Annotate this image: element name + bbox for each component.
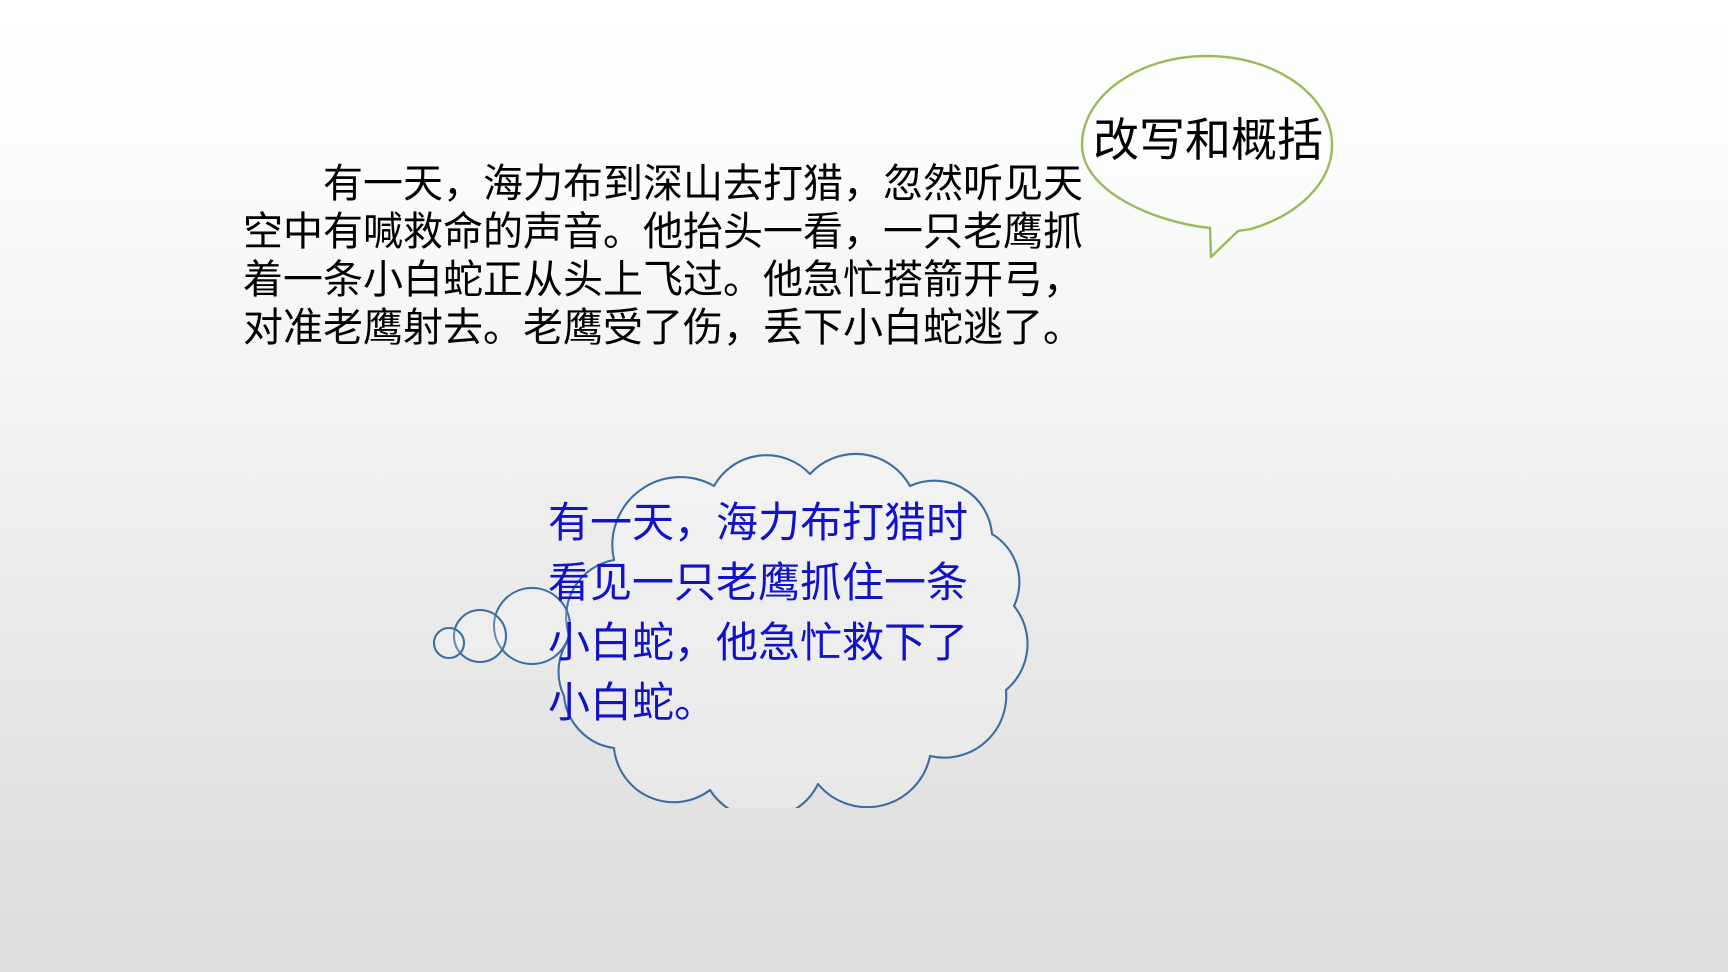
thought-cloud-text: 有一天，海力布打猎时看见一只老鹰抓住一条小白蛇，他急忙救下了小白蛇。	[548, 493, 988, 733]
narrative-paragraph: 有一天，海力布到深山去打猎，忽然听见天空中有喊救命的声音。他抬头一看，一只老鹰抓…	[243, 160, 1083, 352]
page-title: 改写和概括	[1074, 114, 1342, 166]
title-speech-bubble: 改写和概括	[1078, 52, 1338, 262]
thought-tail-circle-small	[434, 628, 464, 658]
slide-canvas: 有一天，海力布到深山去打猎，忽然听见天空中有喊救命的声音。他抬头一看，一只老鹰抓…	[0, 0, 1728, 972]
thought-cloud-bubble: 有一天，海力布打猎时看见一只老鹰抓住一条小白蛇，他急忙救下了小白蛇。	[418, 438, 1038, 808]
